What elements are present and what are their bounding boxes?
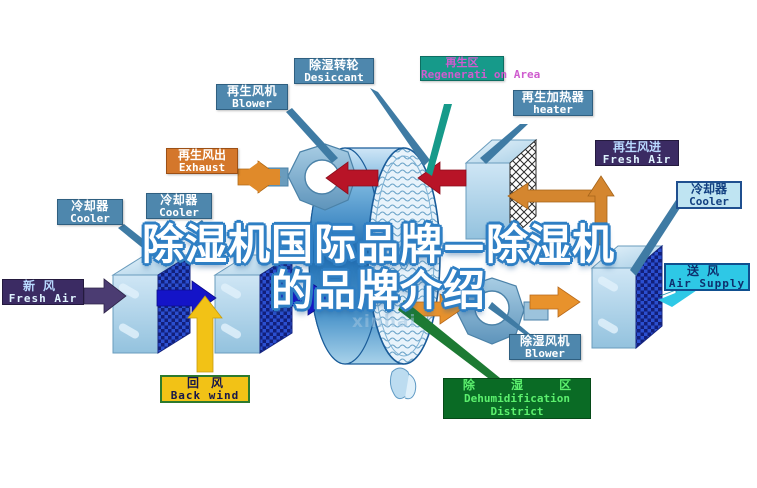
dehumidifier-diagram: xinhai 除湿转轮 Desiccant 再生风机 Blower 再生风出 E…: [0, 0, 757, 488]
arrow-fresh-to-heater: [508, 183, 600, 209]
label-en: Fresh Air: [596, 154, 678, 166]
label-cn: 新风: [3, 280, 83, 293]
label-cooler-left-1: 冷却器 Cooler: [57, 199, 123, 225]
label-en: Cooler: [147, 207, 211, 219]
arrow-fresh-riser: [588, 176, 614, 245]
label-fresh-air-in: 新风 Fresh Air: [2, 279, 84, 305]
label-cn: 除湿风机: [510, 335, 580, 348]
label-cn: 再生风机: [217, 85, 287, 98]
label-dehumidification-district: 除 湿 区 Dehumidification District: [443, 378, 591, 419]
label-cn: 送风: [666, 265, 748, 278]
label-cn: 再生加热器: [514, 91, 592, 104]
label-en: Desiccant: [295, 72, 373, 84]
label-en: Exhaust: [167, 162, 237, 174]
arrow-exhaust-out: [238, 161, 280, 193]
label-en: Fresh Air: [3, 293, 83, 305]
label-cn: 除 湿 区: [444, 379, 590, 392]
label-desiccant-wheel: 除湿转轮 Desiccant: [294, 58, 374, 84]
label-dehum-blower: 除湿风机 Blower: [509, 334, 581, 360]
label-en: Cooler: [58, 213, 122, 225]
label-en: Regenerati on Area: [421, 69, 503, 81]
label-en: Back wind: [162, 390, 248, 402]
label-en: Blower: [217, 98, 287, 110]
label-cn: 除湿转轮: [295, 59, 373, 72]
label-en: Dehumidification District: [444, 392, 590, 418]
label-cooler-left-2: 冷却器 Cooler: [146, 193, 212, 219]
label-back-wind: 回风 Back wind: [160, 375, 250, 403]
label-cn: 再生风出: [167, 149, 237, 162]
label-regen-heater: 再生加热器 heater: [513, 90, 593, 116]
label-en: heater: [514, 104, 592, 116]
label-regen-exhaust: 再生风出 Exhaust: [166, 148, 238, 174]
label-cn: 冷却器: [678, 183, 740, 196]
label-en: Air Supply: [666, 278, 748, 290]
label-air-supply: 送风 Air Supply: [664, 263, 750, 291]
label-cn: 再生风进: [596, 141, 678, 154]
label-cn: 回风: [162, 377, 248, 390]
label-cn: 再生区: [421, 57, 503, 69]
diagram-canvas: [0, 0, 757, 488]
label-en: Cooler: [678, 196, 740, 208]
label-regeneration-area: 再生区 Regenerati on Area: [420, 56, 504, 81]
label-en: Blower: [510, 348, 580, 360]
label-cooler-right: 冷却器 Cooler: [676, 181, 742, 209]
label-regen-fresh-air: 再生风进 Fresh Air: [595, 140, 679, 166]
cooler-block-right: [592, 246, 662, 348]
watermark-text: xinhai: [352, 312, 416, 332]
label-cn: 冷却器: [58, 200, 122, 213]
label-regen-blower: 再生风机 Blower: [216, 84, 288, 110]
label-cn: 冷却器: [147, 194, 211, 207]
